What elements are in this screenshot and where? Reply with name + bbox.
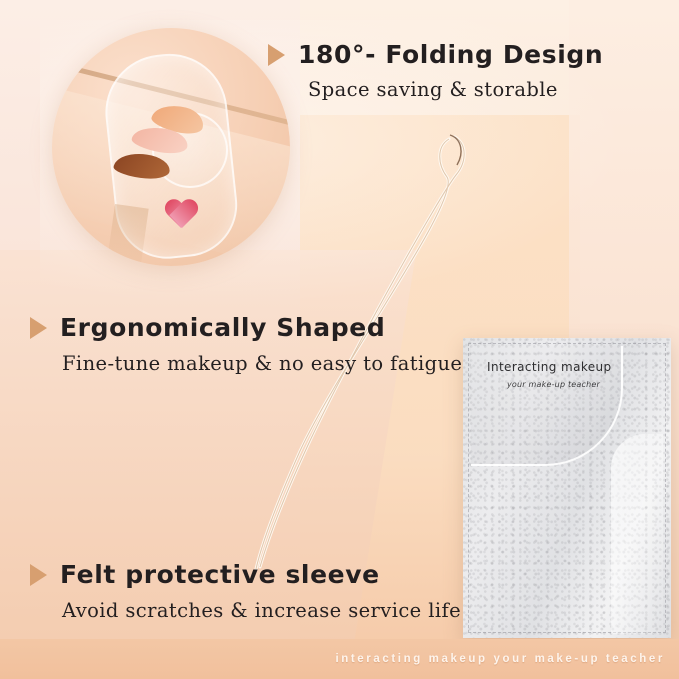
- feature-subtitle: Space saving & storable: [308, 78, 603, 101]
- feature-subtitle: Avoid scratches & increase service life: [62, 599, 461, 622]
- brand-tagline: interacting makeup your make-up teacher: [335, 653, 679, 665]
- triangle-right-icon: [30, 317, 47, 339]
- feature-subtitle: Fine-tune makeup & no easy to fatigue: [62, 352, 462, 375]
- pouch-fold-highlight: [611, 434, 663, 634]
- feature-title: 180°- Folding Design: [298, 40, 603, 69]
- feature-block-felt-protective-sleeve: Felt protective sleeve Avoid scratches &…: [30, 560, 461, 622]
- triangle-right-icon: [268, 44, 285, 66]
- pouch-print-subtitle: your make-up teacher: [507, 380, 600, 389]
- bottom-banner: interacting makeup your make-up teacher: [0, 639, 679, 679]
- product-photo-circle: [52, 28, 290, 266]
- feature-heading: Ergonomically Shaped: [30, 313, 462, 342]
- product-feature-graphic: Interacting makeup your make-up teacher …: [0, 0, 679, 679]
- feature-title: Ergonomically Shaped: [60, 313, 385, 342]
- heart-swatch: [164, 200, 198, 230]
- feature-heading: 180°- Folding Design: [268, 40, 603, 69]
- feature-block-folding-design: 180°- Folding Design Space saving & stor…: [268, 40, 603, 101]
- feature-title: Felt protective sleeve: [60, 560, 380, 589]
- feature-block-ergonomically-shaped: Ergonomically Shaped Fine-tune makeup & …: [30, 313, 462, 375]
- triangle-right-icon: [30, 564, 47, 586]
- felt-pouch: Interacting makeup your make-up teacher: [463, 338, 671, 638]
- pouch-print-title: Interacting makeup: [487, 360, 612, 374]
- feature-heading: Felt protective sleeve: [30, 560, 461, 589]
